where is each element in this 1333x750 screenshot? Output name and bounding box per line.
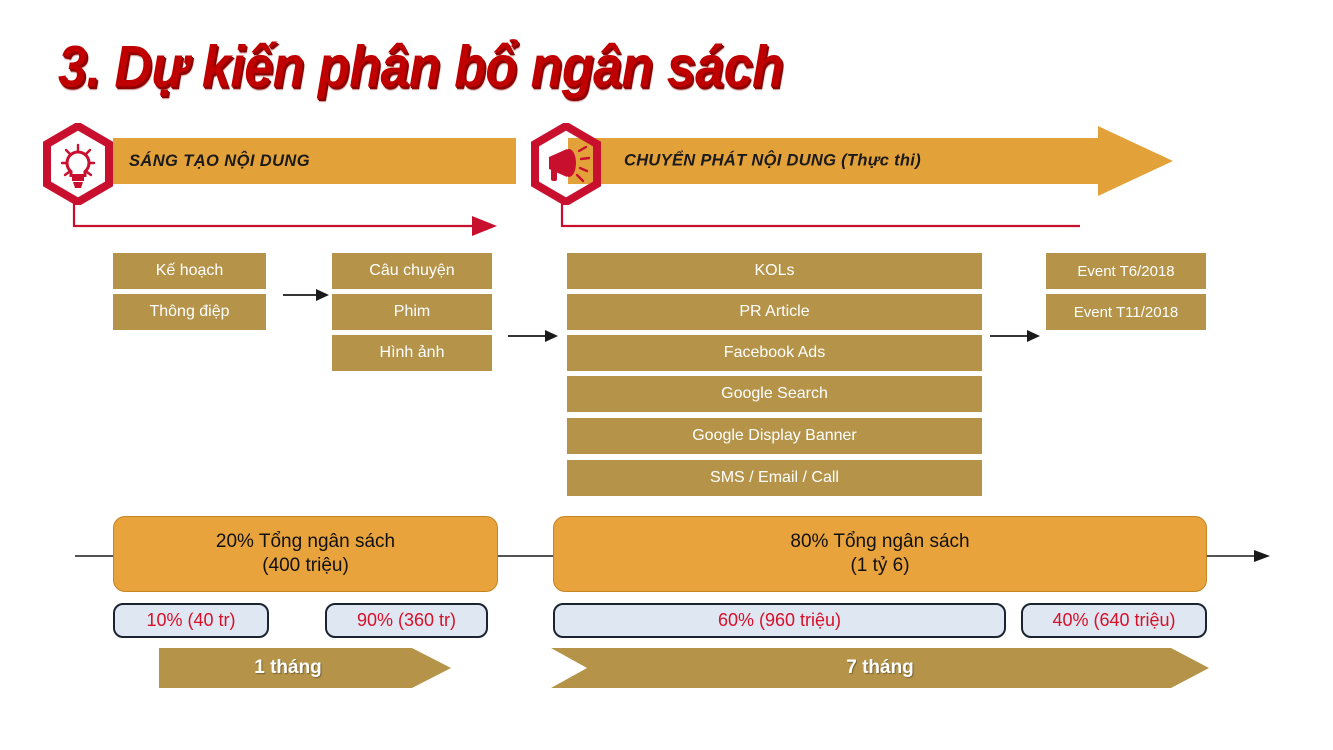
- planning-to-assets-arrow: [283, 287, 329, 303]
- planning-item-label: Thông điệp: [149, 303, 229, 321]
- page-title: 3. Dự kiến phân bổ ngân sách: [58, 34, 783, 101]
- planning-item: Kế hoạch: [113, 253, 266, 289]
- channel-item-label: Google Search: [721, 385, 828, 403]
- creation-flow-connector: [72, 196, 497, 236]
- asset-item-label: Hình ảnh: [380, 344, 445, 362]
- content-creation-banner-label: SÁNG TẠO NỘI DUNG: [129, 152, 310, 171]
- budget-left-box: 20% Tổng ngân sách (400 triệu): [113, 516, 498, 592]
- content-delivery-banner: CHUYỂN PHÁT NỘI DUNG (Thực thi): [568, 126, 1173, 196]
- budget-right-split: 60% (960 triệu): [553, 603, 1006, 638]
- delivery-flow-connector: [560, 196, 1080, 232]
- budget-left-split-label: 10% (40 tr): [146, 610, 235, 631]
- budget-right-percent: 80% Tổng ngân sách: [790, 530, 969, 554]
- megaphone-icon: [529, 123, 603, 205]
- assets-to-channels-arrow: [508, 328, 558, 344]
- budget-right-split: 40% (640 triệu): [1021, 603, 1207, 638]
- event-item-label: Event T11/2018: [1074, 304, 1179, 321]
- channel-item: KOLs: [567, 253, 982, 289]
- content-creation-banner: SÁNG TẠO NỘI DUNG: [113, 138, 516, 184]
- channel-item-label: KOLs: [754, 262, 794, 280]
- event-item: Event T11/2018: [1046, 294, 1206, 330]
- budget-right-split-label: 60% (960 triệu): [718, 610, 841, 631]
- asset-item-label: Phim: [394, 303, 430, 321]
- duration-chevron-left: 1 tháng: [159, 648, 451, 688]
- channel-item: Google Display Banner: [567, 418, 982, 454]
- channel-item: SMS / Email / Call: [567, 460, 982, 496]
- channel-item: Google Search: [567, 376, 982, 412]
- event-item-label: Event T6/2018: [1077, 263, 1174, 280]
- planning-item-label: Kế hoạch: [156, 262, 224, 280]
- channel-item-label: Google Display Banner: [692, 427, 857, 445]
- budget-left-amount: (400 triệu): [262, 554, 349, 578]
- channel-item: Facebook Ads: [567, 335, 982, 371]
- lightbulb-icon: [41, 123, 115, 205]
- budget-right-amount: (1 tỷ 6): [850, 554, 909, 578]
- channel-item-label: PR Article: [739, 303, 809, 321]
- content-delivery-banner-label: CHUYỂN PHÁT NỘI DUNG (Thực thi): [624, 152, 921, 171]
- asset-item: Câu chuyện: [332, 253, 492, 289]
- planning-item: Thông điệp: [113, 294, 266, 330]
- asset-item: Hình ảnh: [332, 335, 492, 371]
- asset-item-label: Câu chuyện: [369, 262, 454, 280]
- budget-left-split: 10% (40 tr): [113, 603, 269, 638]
- asset-item: Phim: [332, 294, 492, 330]
- channel-item-label: SMS / Email / Call: [710, 469, 839, 487]
- slide-canvas: 3. Dự kiến phân bổ ngân sách SÁNG TẠO NỘ…: [0, 0, 1333, 750]
- budget-right-split-label: 40% (640 triệu): [1052, 610, 1175, 631]
- budget-right-box: 80% Tổng ngân sách (1 tỷ 6): [553, 516, 1207, 592]
- event-item: Event T6/2018: [1046, 253, 1206, 289]
- channel-item-label: Facebook Ads: [724, 344, 825, 362]
- budget-left-split: 90% (360 tr): [325, 603, 488, 638]
- channels-to-events-arrow: [990, 328, 1040, 344]
- budget-left-split-label: 90% (360 tr): [357, 610, 456, 631]
- budget-left-percent: 20% Tổng ngân sách: [216, 530, 395, 554]
- channel-item: PR Article: [567, 294, 982, 330]
- duration-chevron-right: 7 tháng: [551, 648, 1209, 688]
